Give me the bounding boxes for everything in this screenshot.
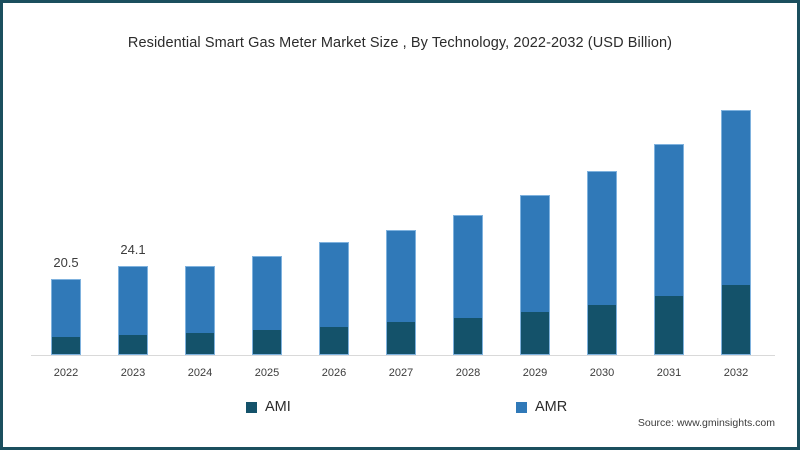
- bar-group[interactable]: [252, 256, 282, 355]
- bar-segment-ami[interactable]: [319, 327, 349, 355]
- x-tick-label: 2022: [36, 367, 96, 379]
- bar-segment-ami[interactable]: [587, 305, 617, 355]
- legend-item-amr[interactable]: AMR: [516, 399, 567, 415]
- x-tick-label: 2032: [706, 367, 766, 379]
- bar-segment-ami[interactable]: [51, 337, 81, 355]
- x-axis-line: [31, 355, 775, 356]
- x-tick-label: 2030: [572, 367, 632, 379]
- bar-segment-amr[interactable]: [520, 195, 550, 312]
- x-tick-label: 2027: [371, 367, 431, 379]
- source-note: Source: www.gminsights.com: [638, 417, 775, 429]
- bar-segment-amr[interactable]: [252, 256, 282, 330]
- legend-swatch-amr: [516, 402, 527, 413]
- bar-group[interactable]: [386, 230, 416, 355]
- bar-segment-amr[interactable]: [654, 144, 684, 296]
- bar-segment-amr[interactable]: [51, 279, 81, 336]
- bar-group[interactable]: [587, 171, 617, 355]
- bar-segment-ami[interactable]: [185, 333, 215, 355]
- x-tick-label: 2026: [304, 367, 364, 379]
- chart-figure: Residential Smart Gas Meter Market Size …: [0, 0, 800, 450]
- legend-label-ami: AMI: [265, 399, 291, 415]
- chart-title: Residential Smart Gas Meter Market Size …: [3, 35, 797, 51]
- bar-segment-amr[interactable]: [453, 215, 483, 318]
- bar-group[interactable]: [185, 266, 215, 355]
- bar-group[interactable]: [118, 266, 148, 355]
- bar-segment-amr[interactable]: [319, 242, 349, 326]
- x-tick-label: 2031: [639, 367, 699, 379]
- bar-segment-ami[interactable]: [386, 322, 416, 355]
- x-tick-label: 2024: [170, 367, 230, 379]
- bar-segment-ami[interactable]: [654, 296, 684, 355]
- bar-segment-amr[interactable]: [386, 230, 416, 322]
- bar-segment-ami[interactable]: [520, 312, 550, 355]
- x-tick-label: 2029: [505, 367, 565, 379]
- x-tick-label: 2023: [103, 367, 163, 379]
- bar-segment-ami[interactable]: [453, 318, 483, 355]
- bar-segment-amr[interactable]: [721, 110, 751, 285]
- x-tick-label: 2028: [438, 367, 498, 379]
- bar-segment-ami[interactable]: [118, 335, 148, 355]
- bar-group[interactable]: [520, 195, 550, 355]
- bar-value-label: 20.5: [36, 255, 96, 270]
- bar-segment-ami[interactable]: [721, 285, 751, 355]
- legend-label-amr: AMR: [535, 399, 567, 415]
- bar-group[interactable]: [721, 110, 751, 355]
- bar-segment-amr[interactable]: [587, 171, 617, 305]
- bar-group[interactable]: [654, 144, 684, 355]
- x-tick-label: 2025: [237, 367, 297, 379]
- bar-group[interactable]: [453, 215, 483, 355]
- bar-segment-amr[interactable]: [118, 266, 148, 335]
- bar-group[interactable]: [51, 279, 81, 355]
- bar-segment-ami[interactable]: [252, 330, 282, 355]
- legend-swatch-ami: [246, 402, 257, 413]
- legend-item-ami[interactable]: AMI: [246, 399, 291, 415]
- bar-group[interactable]: [319, 242, 349, 355]
- bar-value-label: 24.1: [103, 242, 163, 257]
- bar-segment-amr[interactable]: [185, 266, 215, 333]
